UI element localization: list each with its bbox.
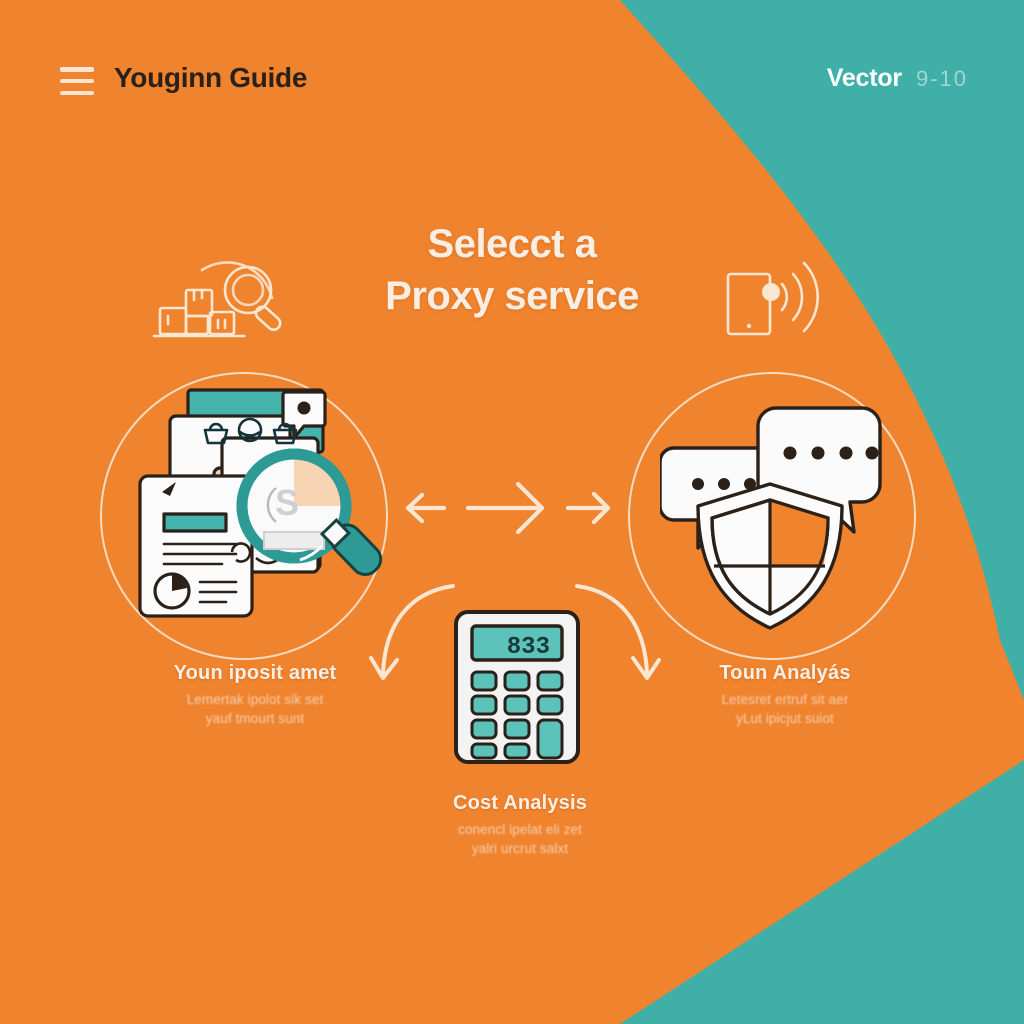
calculator-display-value: 833 (507, 634, 550, 661)
caption-right-sub-line-2: yLut ipicjut suiot (655, 709, 915, 728)
caption-right-sub-line-1: Letesret ertruf sit aer (655, 690, 915, 709)
caption-left: Youn iposit amet Lemertak ipolot sik set… (125, 662, 385, 728)
menu-bar-1 (60, 67, 94, 72)
menu-bar-3 (60, 91, 94, 96)
vector-label: Vector (827, 64, 902, 93)
page-header: Youginn Guide Vector 9-10 (0, 0, 1024, 140)
page-title: Selecct a Proxy service (0, 218, 1024, 322)
caption-left-sub-line-1: Lemertak ipolot sik set (125, 690, 385, 709)
caption-left-subtext: Lemertak ipolot sik set yauf tmourt sunt (125, 690, 385, 728)
curved-arrow-down-right-icon (577, 586, 659, 678)
caption-left-title: Youn iposit amet (125, 662, 385, 685)
arrow-right-small-icon (568, 494, 608, 522)
shield-chat-bubbles-icon (660, 388, 890, 643)
caption-right: Toun Analyás Letesret ertruf sit aer yLu… (655, 662, 915, 728)
page-title-line-2: Proxy service (0, 270, 1024, 322)
calculator-icon: 833 (450, 608, 586, 773)
arrow-left-icon (408, 495, 444, 521)
documents-magnifier-icon: S (126, 382, 384, 637)
infographic-canvas: Youginn Guide Vector 9-10 Selecct a Prox… (0, 0, 1024, 1024)
hamburger-menu-icon[interactable] (60, 67, 94, 95)
caption-left-sub-line-2: yauf tmourt sunt (125, 709, 385, 728)
vector-number: 9-10 (916, 66, 968, 92)
flow-arrows (400, 478, 620, 543)
page-title-line-1: Selecct a (0, 218, 1024, 270)
caption-bottom: Cost Analysis conencl ipelat eli zet yal… (390, 792, 650, 858)
caption-bottom-sub-line-1: conencl ipelat eli zet (390, 820, 650, 839)
caption-right-subtext: Letesret ertruf sit aer yLut ipicjut sui… (655, 690, 915, 728)
menu-bar-2 (60, 79, 94, 84)
vector-badge: Vector 9-10 (827, 64, 968, 93)
caption-bottom-subtext: conencl ipelat eli zet yalri urcrut salx… (390, 820, 650, 858)
caption-bottom-title: Cost Analysis (390, 792, 650, 815)
brand-title: Youginn Guide (114, 62, 307, 94)
svg-text:S: S (275, 482, 299, 523)
caption-bottom-sub-line-2: yalri urcrut salxt (390, 839, 650, 858)
caption-right-title: Toun Analyás (655, 662, 915, 685)
arrow-right-large-icon (468, 484, 542, 532)
